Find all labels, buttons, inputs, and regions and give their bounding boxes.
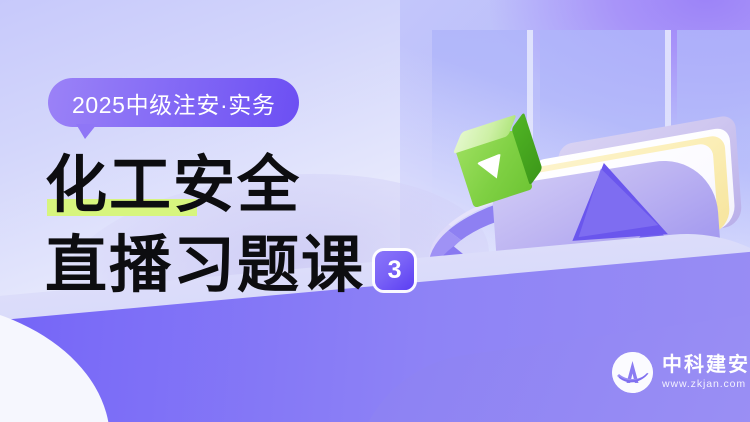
brand-logo-mark-icon — [612, 352, 653, 393]
headline-row-2: 直播习题课 3 — [45, 232, 414, 300]
course-banner: 2025中级注安·实务 化工安全 直播习题课 3 中科建安 www.zkjan.… — [0, 0, 750, 422]
headline-line-2: 直播习题课 — [45, 232, 365, 300]
course-badge: 2025中级注安·实务 — [48, 78, 299, 127]
brand-name: 中科建安 — [662, 355, 750, 376]
headline-block: 化工安全 直播习题课 3 — [45, 152, 414, 300]
course-badge-pill: 2025中级注安·实务 — [48, 78, 299, 127]
brand-url: www.zkjan.com — [662, 378, 750, 390]
headline-line-1: 化工安全 — [45, 152, 301, 220]
course-badge-label: 2025中级注安·实务 — [72, 86, 275, 120]
course-badge-tail — [76, 124, 97, 139]
headline-row-1: 化工安全 — [45, 152, 414, 220]
episode-number-badge: 3 — [375, 251, 414, 290]
brand-logo: 中科建安 www.zkjan.com — [612, 352, 750, 393]
brand-logo-text: 中科建安 www.zkjan.com — [662, 355, 750, 390]
